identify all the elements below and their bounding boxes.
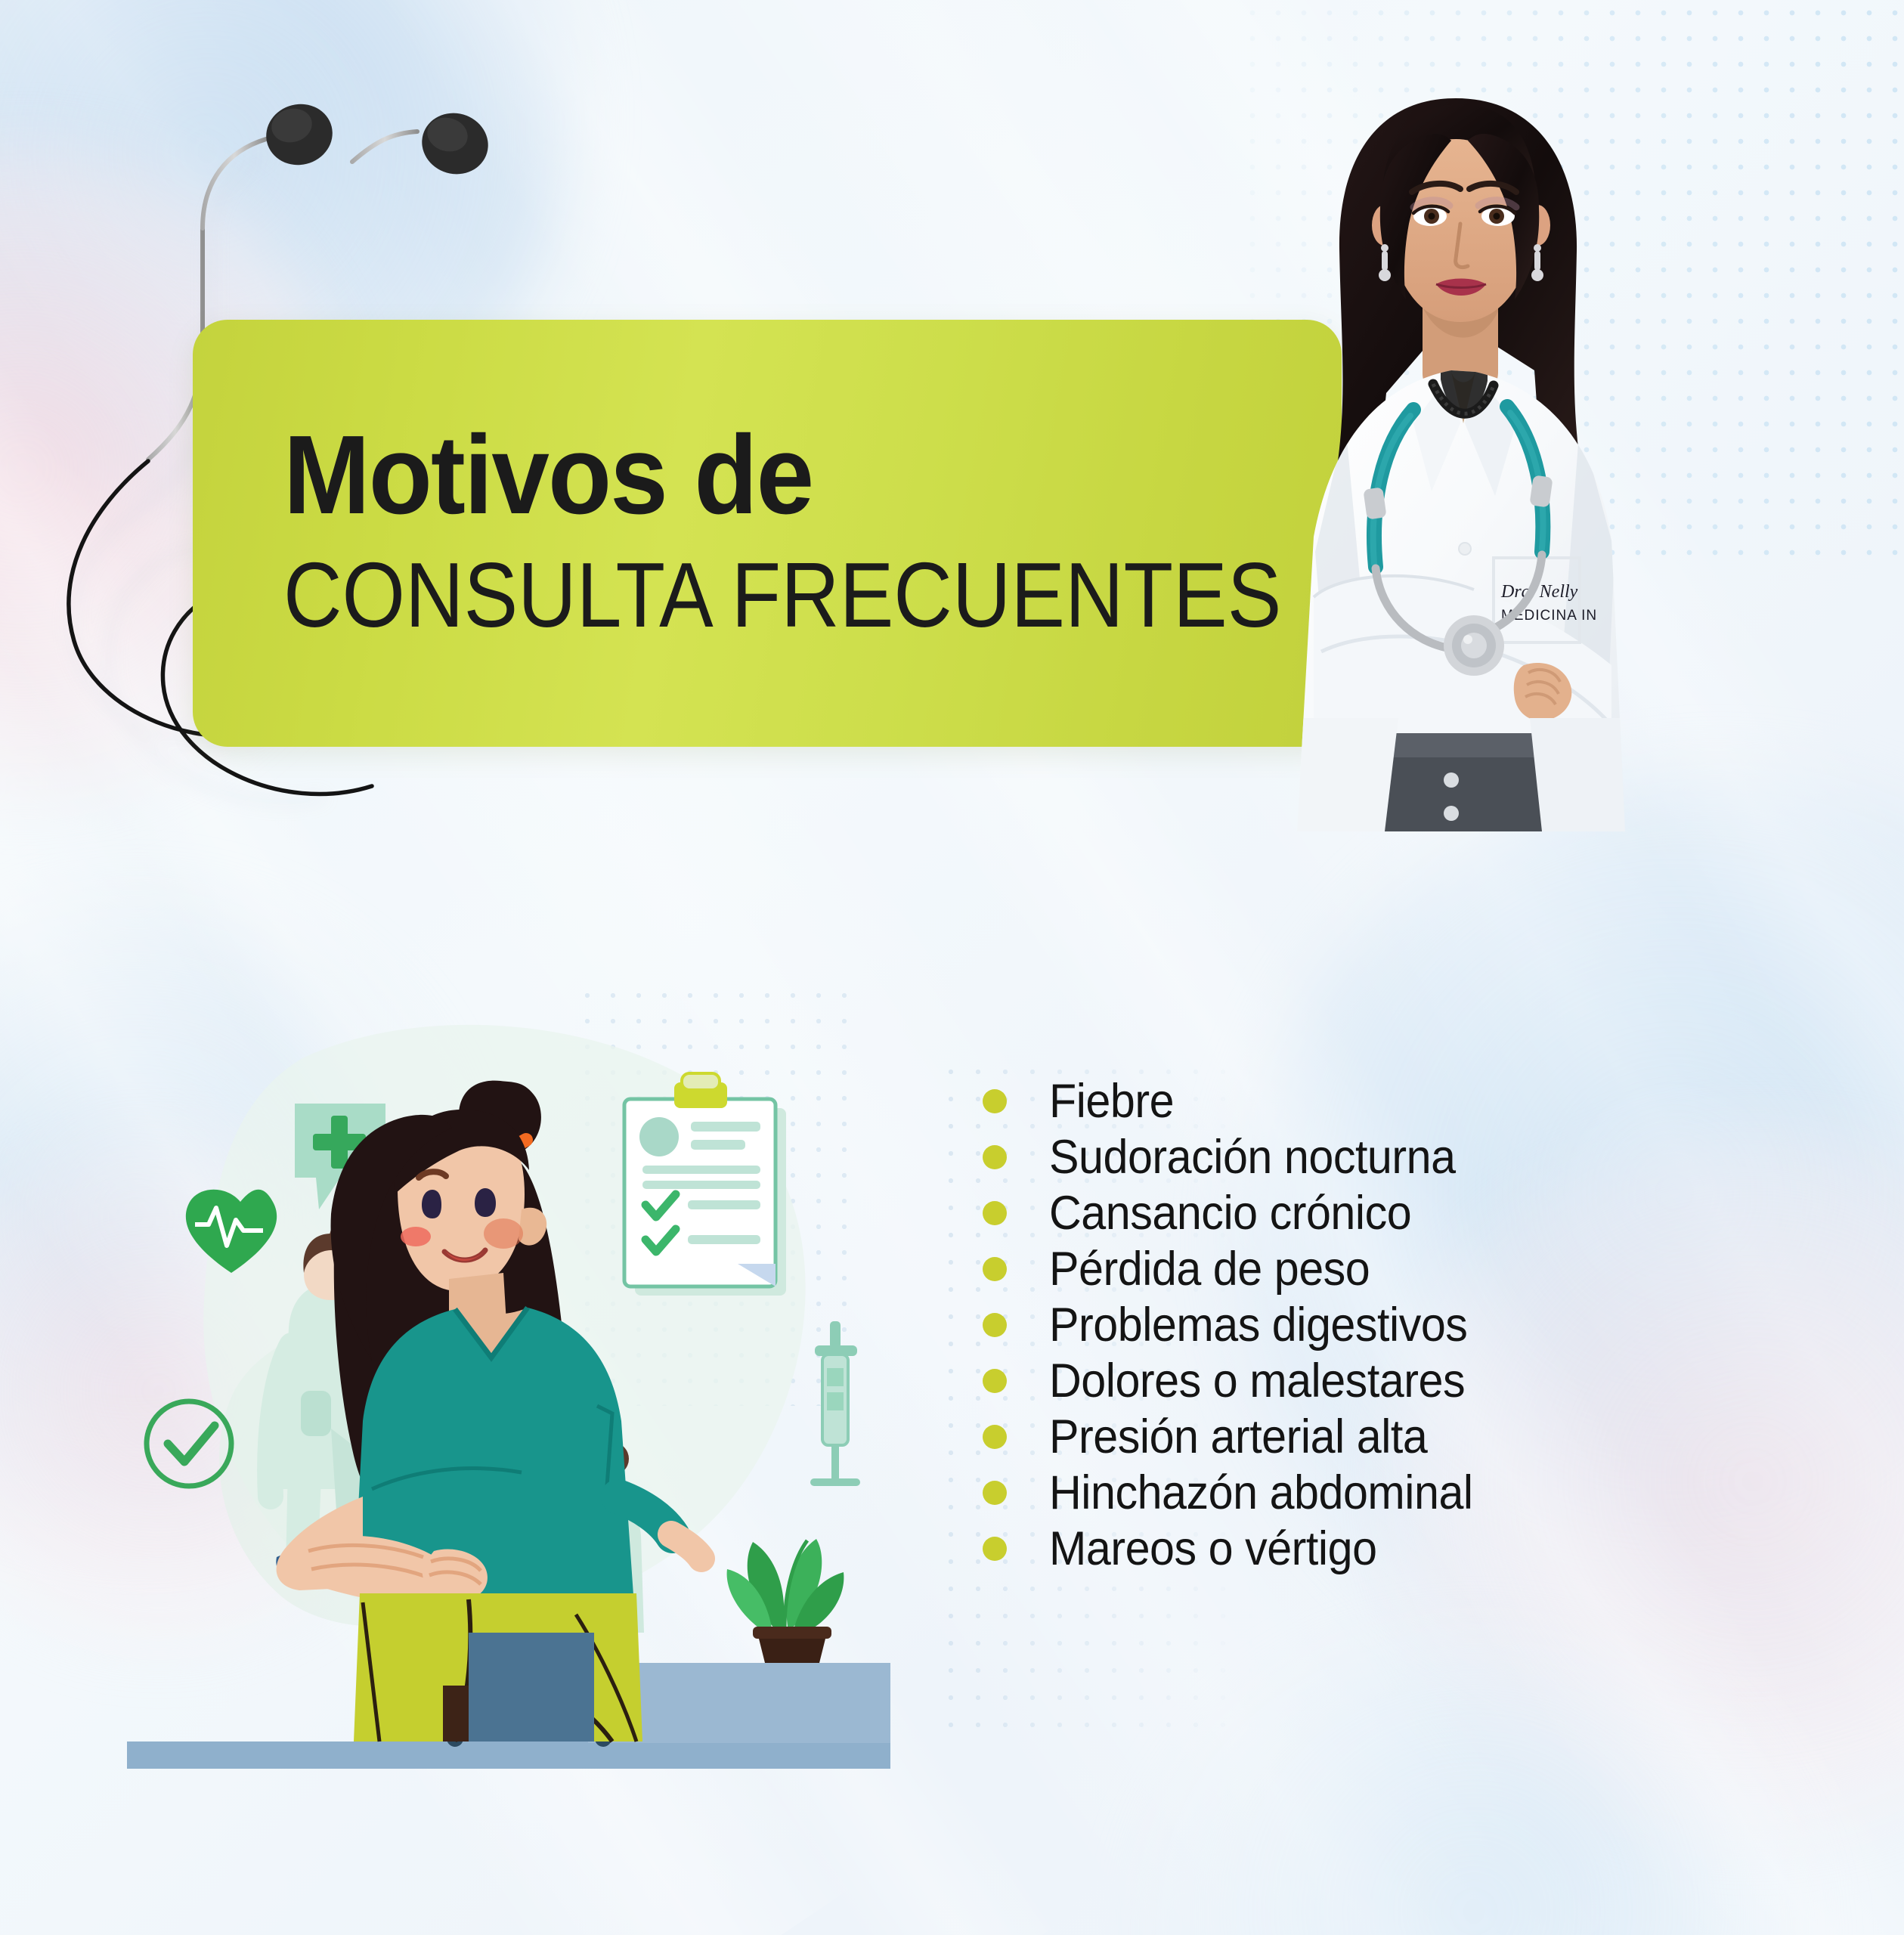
list-item[interactable]: Sudoración nocturna — [983, 1129, 1814, 1185]
list-item[interactable]: Pérdida de peso — [983, 1241, 1814, 1297]
medical-illustration — [113, 967, 892, 1807]
list-item-label: Sudoración nocturna — [1049, 1130, 1456, 1184]
list-item[interactable]: Presión arterial alta — [983, 1409, 1814, 1465]
syringe-icon — [810, 1321, 860, 1486]
list-item-label: Fiebre — [1049, 1074, 1174, 1128]
list-item-label: Dolores o malestares — [1049, 1354, 1465, 1408]
list-item[interactable]: Mareos o vértigo — [983, 1521, 1814, 1577]
list-item[interactable]: Hinchazón abdominal — [983, 1465, 1814, 1521]
list-item-label: Mareos o vértigo — [1049, 1522, 1377, 1576]
floor-bar — [127, 1741, 890, 1769]
list-item-label: Pérdida de peso — [1049, 1242, 1370, 1296]
list-item-label: Hinchazón abdominal — [1049, 1466, 1473, 1520]
bullet-dot-icon — [983, 1257, 1007, 1281]
bullet-dot-icon — [983, 1537, 1007, 1561]
bullet-dot-icon — [983, 1369, 1007, 1393]
symptom-list: Fiebre Sudoración nocturna Cansancio cró… — [983, 1073, 1814, 1577]
doctor-portrait: Dra. Nelly MEDICINA IN — [1224, 68, 1693, 831]
svg-text:Dra. Nelly: Dra. Nelly — [1500, 582, 1578, 602]
list-item-label: Presión arterial alta — [1049, 1410, 1427, 1464]
page-title: Motivos de — [283, 420, 1268, 531]
list-item[interactable]: Problemas digestivos — [983, 1297, 1814, 1353]
bullet-dot-icon — [983, 1425, 1007, 1449]
list-item-label: Problemas digestivos — [1049, 1298, 1467, 1352]
bullet-dot-icon — [983, 1313, 1007, 1337]
bullet-dot-icon — [983, 1201, 1007, 1225]
bullet-dot-icon — [983, 1145, 1007, 1169]
list-item[interactable]: Fiebre — [983, 1073, 1814, 1129]
page-subtitle: CONSULTA FRECUENTES — [283, 543, 1215, 647]
list-item[interactable]: Cansancio crónico — [983, 1185, 1814, 1241]
title-banner: Motivos de CONSULTA FRECUENTES — [193, 320, 1342, 747]
list-item-label: Cansancio crónico — [1049, 1186, 1411, 1240]
list-item[interactable]: Dolores o malestares — [983, 1353, 1814, 1409]
clipboard-checklist-icon — [624, 1073, 786, 1296]
poster-canvas: Motivos de CONSULTA FRECUENTES — [0, 0, 1904, 1935]
bullet-dot-icon — [983, 1089, 1007, 1113]
potted-plant-icon — [727, 1539, 844, 1675]
bullet-dot-icon — [983, 1481, 1007, 1505]
check-circle-icon — [147, 1401, 231, 1486]
